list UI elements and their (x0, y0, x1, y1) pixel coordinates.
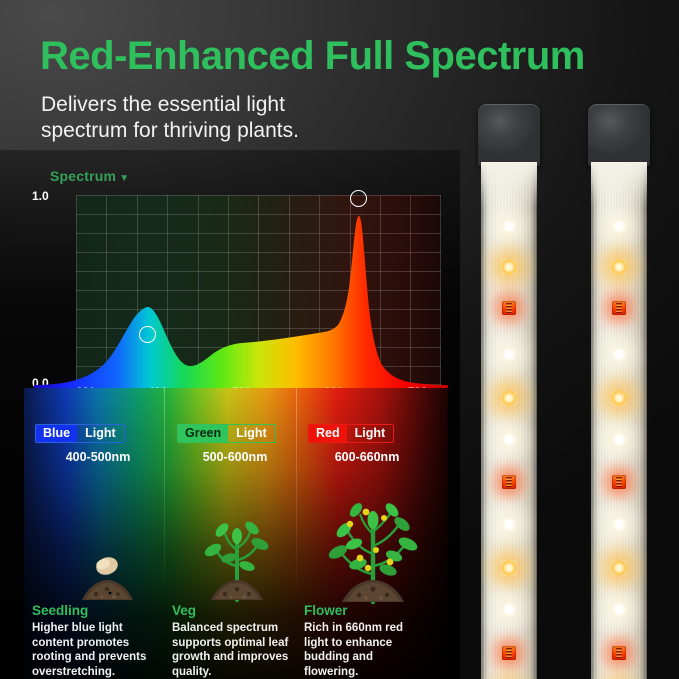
stage-title-flower: Flower (304, 603, 348, 618)
red-peak-marker (350, 190, 367, 207)
led-warm (611, 390, 627, 406)
led-red (612, 646, 626, 660)
badge-red-light: Red Light (308, 424, 394, 443)
led-warm (501, 259, 517, 275)
page-title: Red-Enhanced Full Spectrum (40, 34, 585, 79)
range-blue: 400-500nm (35, 450, 161, 464)
led-white (502, 602, 517, 617)
bar-end-cap (478, 104, 540, 166)
section-divider (296, 388, 297, 618)
page-subtitle: Delivers the essential light spectrum fo… (41, 92, 371, 144)
led-white (612, 432, 627, 447)
led-white (612, 517, 627, 532)
led-warm (501, 390, 517, 406)
stage-desc-veg: Balanced spectrum supports optimal leaf … (172, 621, 294, 679)
led-white (502, 219, 517, 234)
seedling-illustration (62, 528, 152, 608)
led-warm (611, 259, 627, 275)
led-red (502, 301, 516, 315)
range-red: 600-660nm (304, 450, 430, 464)
spectrum-band-panel: Blue Light 400-500nm Green Light 500-600… (24, 388, 448, 679)
stage-title-seedling: Seedling (32, 603, 88, 618)
led-warm (501, 560, 517, 576)
led-white (502, 347, 517, 362)
led-white (612, 219, 627, 234)
badge-red-color-label: Red (309, 425, 347, 442)
stage-desc-seedling: Higher blue light content promotes rooti… (32, 621, 157, 679)
led-red (612, 301, 626, 315)
badge-green-light: Green Light (177, 424, 276, 443)
section-divider (164, 388, 165, 618)
stage-desc-flower: Rich in 660nm red light to enhance buddi… (304, 621, 429, 679)
stage-title-veg: Veg (172, 603, 196, 618)
range-green: 500-600nm (172, 450, 298, 464)
bar-diffuser-tube (481, 162, 537, 679)
veg-plant-illustration (187, 508, 287, 608)
spectrum-curve (24, 168, 448, 408)
led-white (502, 432, 517, 447)
spectrum-chart: Spectrum▼ 1.0 0.0 (24, 168, 448, 408)
product-infographic: Red-Enhanced Full Spectrum Delivers the … (0, 0, 679, 679)
led-grow-bar-left (478, 104, 540, 679)
led-red (612, 475, 626, 489)
led-warm (611, 560, 627, 576)
led-red (502, 475, 516, 489)
blue-peak-marker (139, 326, 156, 343)
led-red (502, 646, 516, 660)
badge-red-light-label: Light (347, 425, 394, 442)
bar-diffuser-tube (591, 162, 647, 679)
led-grow-bar-right (588, 104, 650, 679)
flower-plant-illustration (314, 498, 432, 610)
badge-blue-light: Blue Light (35, 424, 125, 443)
badge-blue-light-label: Light (77, 425, 124, 442)
bar-end-cap (588, 104, 650, 166)
badge-blue-color-label: Blue (36, 425, 77, 442)
led-white (502, 517, 517, 532)
badge-green-color-label: Green (178, 425, 228, 442)
led-white (612, 347, 627, 362)
badge-green-light-label: Light (228, 425, 275, 442)
led-white (612, 602, 627, 617)
